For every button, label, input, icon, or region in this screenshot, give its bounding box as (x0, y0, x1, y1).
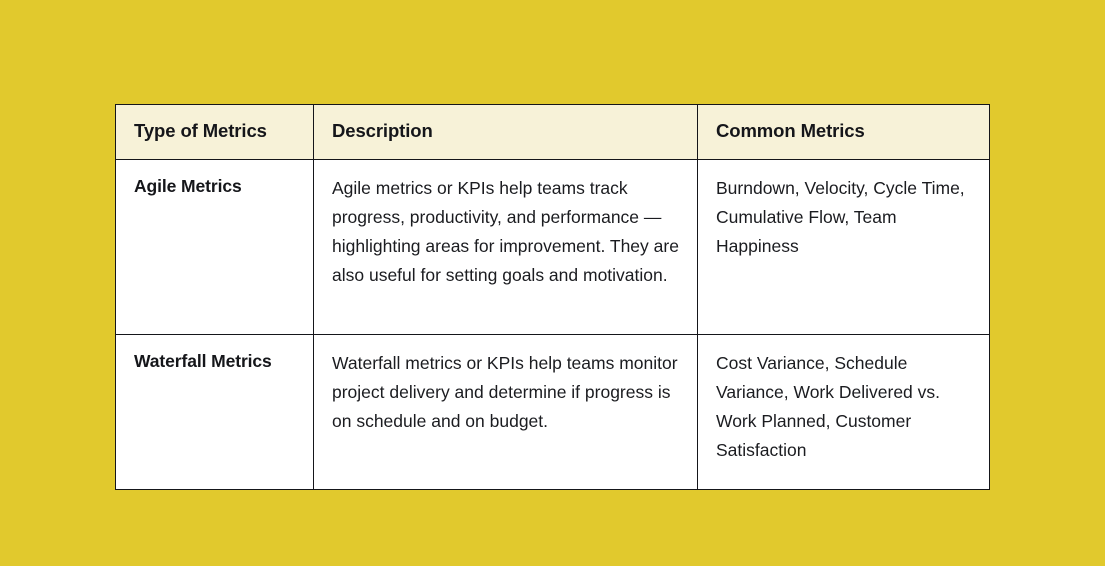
cell-metric-type: Waterfall Metrics (116, 335, 314, 490)
table-row: Agile Metrics Agile metrics or KPIs help… (116, 160, 990, 335)
metrics-comparison-table: Type of Metrics Description Common Metri… (115, 104, 990, 490)
cell-metric-description: Agile metrics or KPIs help teams track p… (314, 160, 698, 335)
page-canvas: Type of Metrics Description Common Metri… (0, 0, 1105, 566)
cell-common-metrics: Burndown, Velocity, Cycle Time, Cumulati… (698, 160, 990, 335)
column-header-type-of-metrics: Type of Metrics (116, 105, 314, 160)
cell-metric-type: Agile Metrics (116, 160, 314, 335)
cell-common-metrics: Cost Variance, Schedule Variance, Work D… (698, 335, 990, 490)
table-row: Waterfall Metrics Waterfall metrics or K… (116, 335, 990, 490)
column-header-common-metrics: Common Metrics (698, 105, 990, 160)
column-header-description: Description (314, 105, 698, 160)
table-header-row: Type of Metrics Description Common Metri… (116, 105, 990, 160)
table-body: Agile Metrics Agile metrics or KPIs help… (116, 160, 990, 490)
table-header: Type of Metrics Description Common Metri… (116, 105, 990, 160)
cell-metric-description: Waterfall metrics or KPIs help teams mon… (314, 335, 698, 490)
